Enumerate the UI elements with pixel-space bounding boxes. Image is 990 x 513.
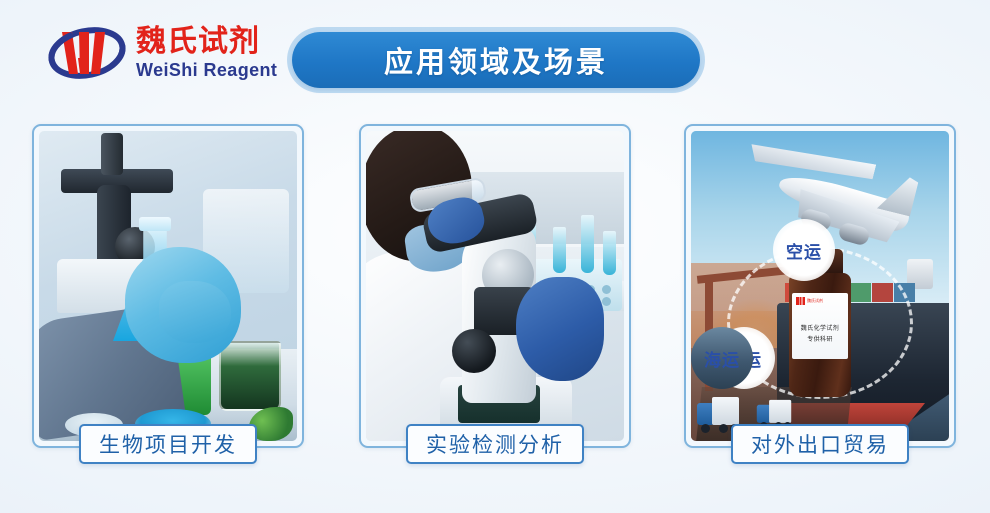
card-caption-text: 生物项目开发 [99,429,237,459]
brand-name-en: WeiShi Reagent [136,61,277,79]
card-caption-text: 对外出口贸易 [751,429,889,459]
flask-neck [139,217,171,231]
application-cards: 生物项目开发 [0,124,990,484]
bottle-label-logo: 魏氏试剂 [796,297,823,305]
freight-label-sea-text: 海运 [704,346,740,371]
gloved-hand-lower [516,277,604,381]
freight-label-sea: 海运 [691,327,753,389]
photo-scientist-microscope [366,131,624,441]
airplane-tail [877,171,919,216]
card-caption: 实验检测分析 [406,424,584,464]
card-bio-project-development[interactable]: 生物项目开发 [32,124,304,448]
card-lab-testing-analysis[interactable]: 实验检测分析 [359,124,631,448]
test-tube [553,227,566,273]
freight-label-air-text: 空运 [786,238,822,263]
test-tube [581,215,594,273]
photo-lab-flask [39,131,297,441]
brand-logo: 魏氏试剂 WeiShi Reagent [48,22,277,84]
page-header: 魏氏试剂 WeiShi Reagent 应用领域及场景 [0,0,990,110]
photo-logistics: 魏氏试剂 魏氏化学试剂 专供科研 空运 陆运 海运 [691,131,949,441]
bottle-label-line1: 魏氏化学试剂 [801,323,839,332]
test-tube [603,231,616,275]
page-title: 应用领域及场景 [384,39,608,81]
bottle-label-brand: 魏氏试剂 [807,298,823,304]
bottle-label-line2: 专供科研 [807,334,833,343]
brand-name-cn: 魏氏试剂 [136,27,277,57]
truck-trailer [769,400,791,423]
truck-trailer [712,397,739,425]
truck-cab [697,403,713,425]
bottle-label: 魏氏试剂 魏氏化学试剂 专供科研 [792,293,848,359]
card-caption: 生物项目开发 [79,424,257,464]
focus-knob [452,329,496,373]
page-title-banner: 应用领域及场景 [292,32,700,88]
card-export-trade[interactable]: 魏氏试剂 魏氏化学试剂 专供科研 空运 陆运 海运 对外出口贸易 [684,124,956,448]
truck-cab [757,405,770,423]
truck-wheel [719,424,728,433]
truck-wheel [701,424,710,433]
card-caption-text: 实验检测分析 [426,429,564,459]
photo-frame [359,124,631,448]
weishi-w-mini-icon [796,297,805,305]
weishi-w-swoosh-logo-icon [48,22,126,84]
photo-frame [32,124,304,448]
green-algae-beaker [219,341,281,411]
microscope-tube [101,133,123,175]
brand-text: 魏氏试剂 WeiShi Reagent [136,27,277,79]
card-caption: 对外出口贸易 [731,424,909,464]
blue-glove-fingers [159,281,231,343]
freight-label-air: 空运 [773,219,835,281]
photo-frame: 魏氏试剂 魏氏化学试剂 专供科研 空运 陆运 海运 [684,124,956,448]
